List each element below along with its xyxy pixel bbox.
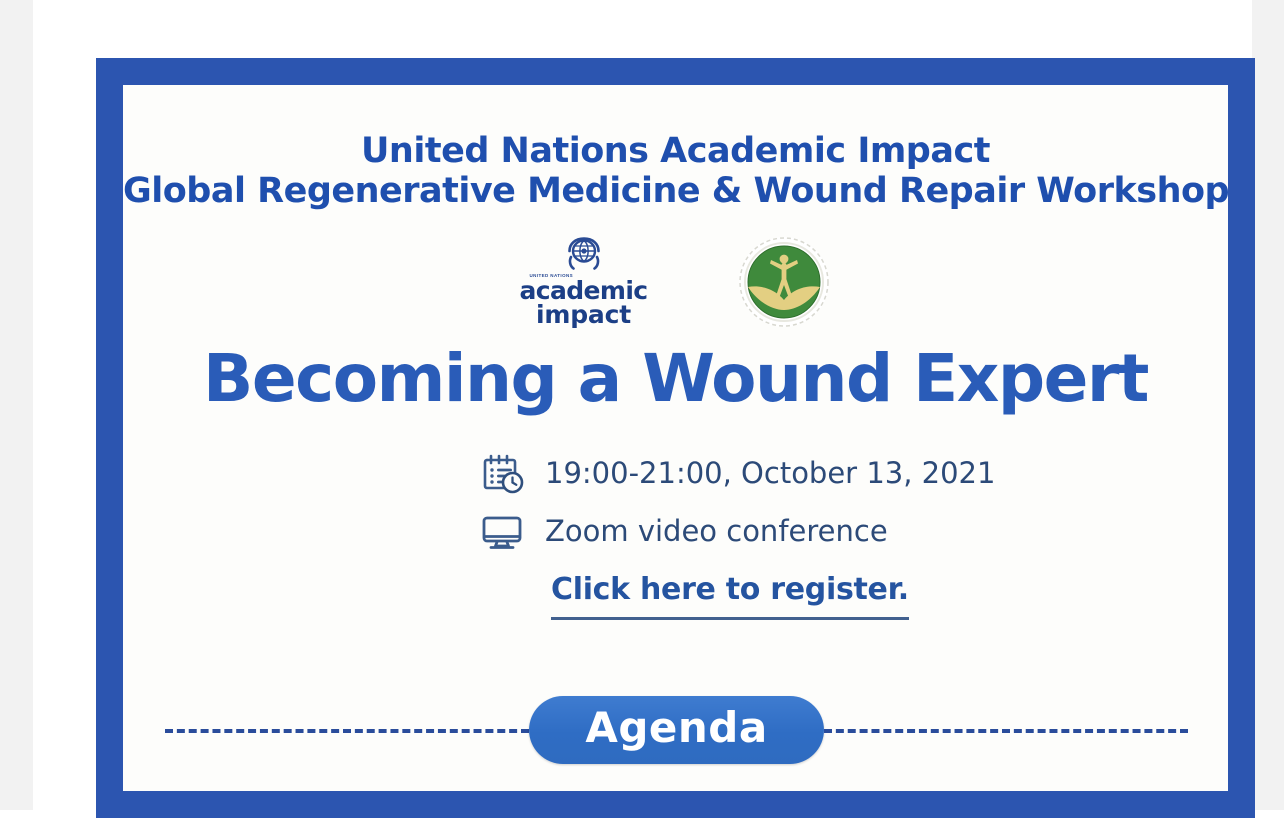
dashed-divider-right — [824, 729, 1188, 733]
un-academic-impact-word-impact: impact — [536, 303, 631, 328]
logo-row: united nations academic impact — [123, 234, 1228, 330]
register-link[interactable]: Click here to register. — [551, 572, 909, 620]
event-details-list: 19:00-21:00, October 13, 2021 — [123, 444, 1228, 560]
agenda-band: Agenda — [123, 695, 1228, 765]
poster-heading-line-2: Global Regenerative Medicine & Wound Rep… — [123, 171, 1228, 212]
detail-text-datetime: 19:00-21:00, October 13, 2021 — [545, 456, 995, 490]
poster-blue-frame: United Nations Academic Impact Global Re… — [96, 58, 1255, 818]
un-academic-impact-logo: united nations academic impact — [514, 237, 654, 328]
un-emblem-icon — [564, 237, 604, 271]
document-page: ⸺ ⸺⸺ ⸺⸺⸺ ⸺⸺ ⸺⸺⸺⸺ ⸺⸺ ⸺⸺ ⸺⸺ ⸺ United Natio… — [33, 0, 1252, 810]
clipped-top-text: ⸺ ⸺⸺ ⸺⸺⸺ ⸺⸺ ⸺⸺⸺⸺ ⸺⸺ ⸺⸺ ⸺⸺ ⸺ — [81, 0, 1141, 5]
poster-content: United Nations Academic Impact Global Re… — [123, 85, 1228, 791]
monitor-icon — [479, 508, 525, 554]
green-circular-seal-logo — [730, 234, 838, 330]
detail-row-datetime: 19:00-21:00, October 13, 2021 — [479, 444, 1228, 502]
detail-text-platform: Zoom video conference — [545, 514, 888, 548]
schedule-clock-icon — [479, 450, 525, 496]
poster-heading-line-1: United Nations Academic Impact — [123, 85, 1228, 171]
agenda-badge: Agenda — [529, 696, 823, 764]
register-link-wrap: Click here to register. — [123, 572, 1228, 620]
dashed-divider-left — [165, 729, 529, 733]
page-title: Becoming a Wound Expert — [123, 344, 1228, 413]
page-background: ⸺ ⸺⸺ ⸺⸺⸺ ⸺⸺ ⸺⸺⸺⸺ ⸺⸺ ⸺⸺ ⸺⸺ ⸺ United Natio… — [0, 0, 1284, 810]
detail-row-platform: Zoom video conference — [479, 502, 1228, 560]
